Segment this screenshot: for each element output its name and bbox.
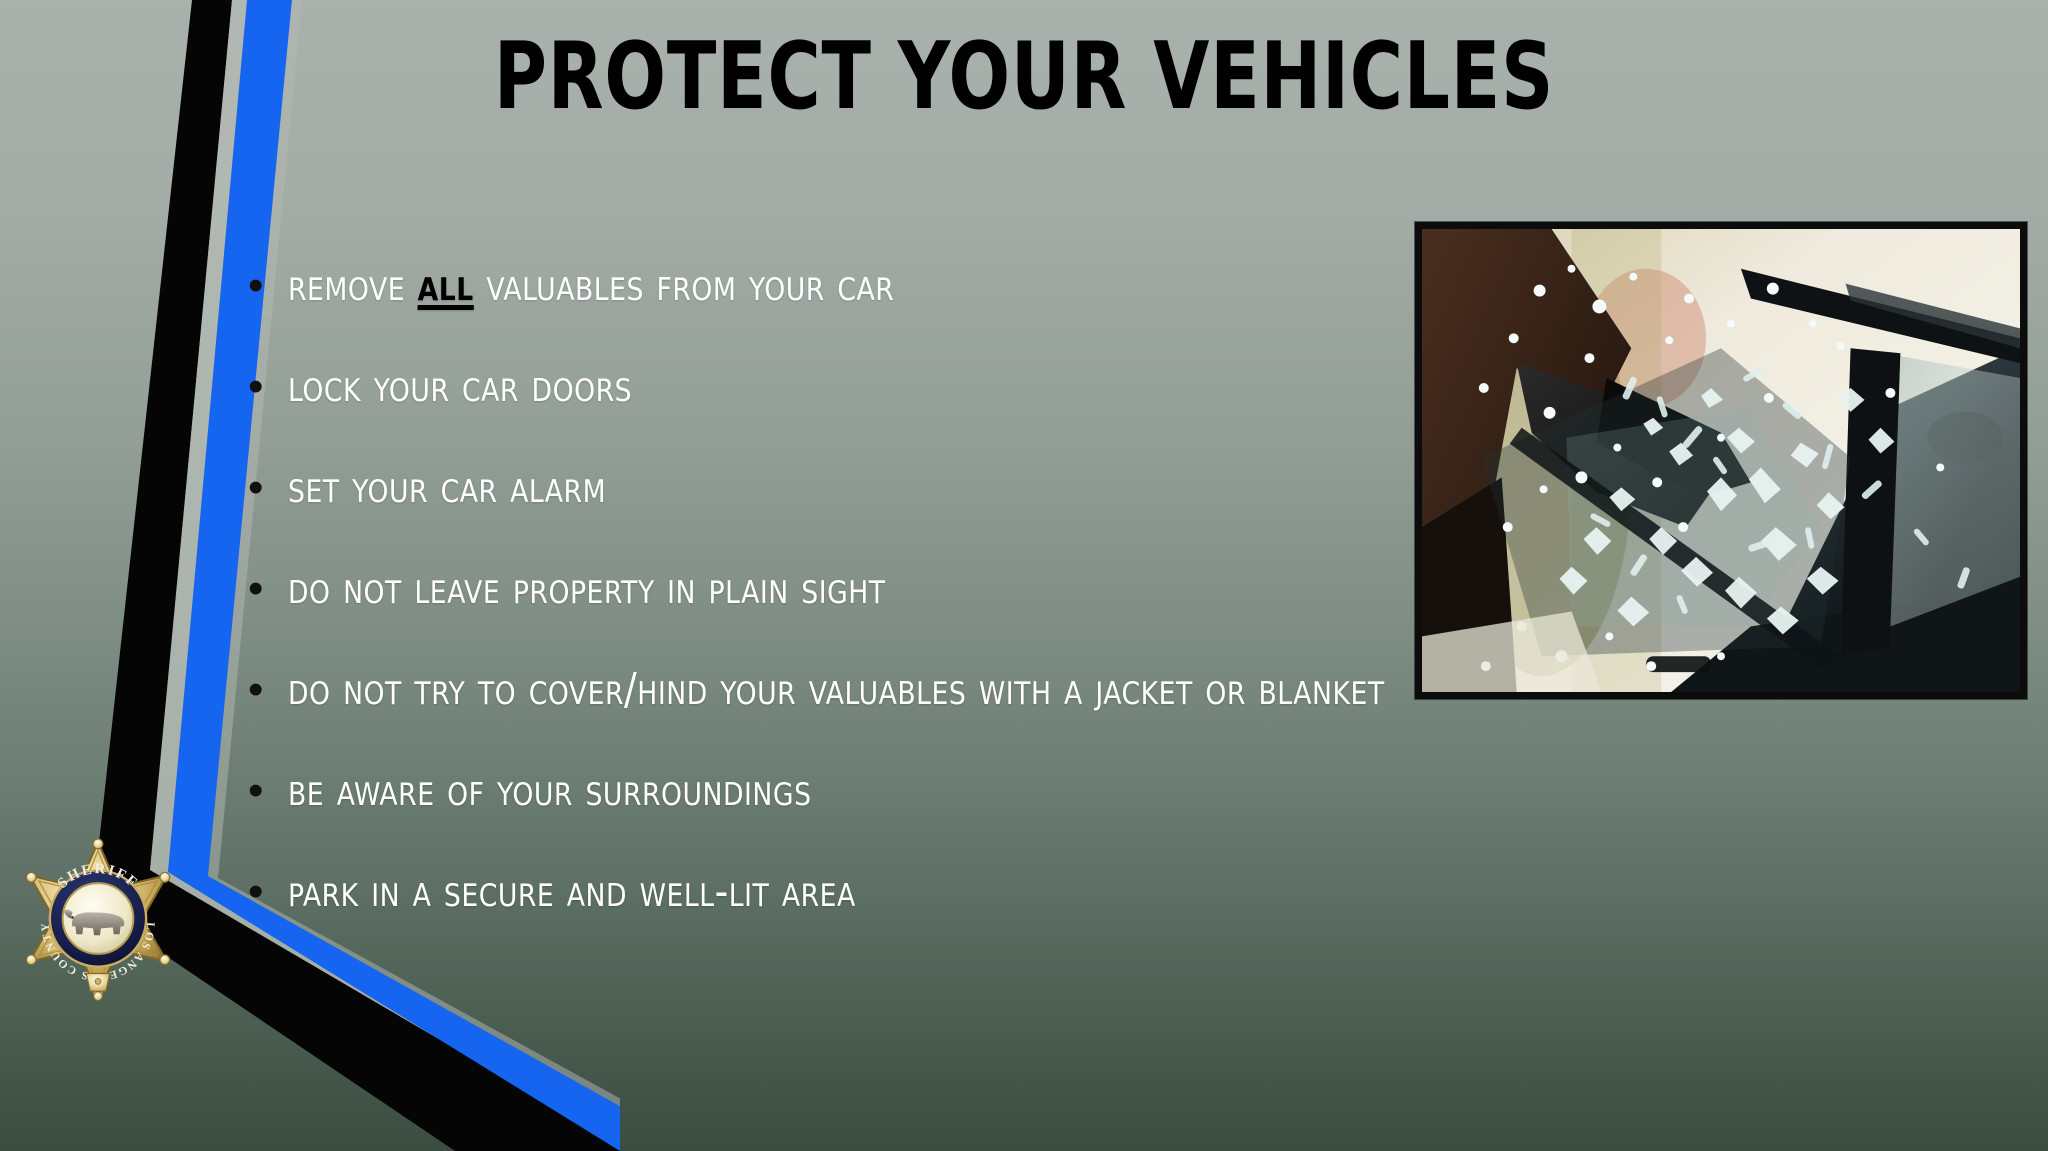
bullet-marker-icon: •	[248, 860, 288, 924]
bullet-marker-icon: •	[248, 759, 288, 823]
bullet-marker-icon: •	[248, 254, 288, 318]
list-item: • Park in a secure and well-lit area	[248, 858, 1938, 926]
list-item: • Be aware of your surroundings	[248, 757, 1938, 825]
bullet-text-post: valuables from your car	[474, 260, 895, 311]
bullet-marker-icon: •	[248, 456, 288, 520]
bullet-marker-icon: •	[248, 557, 288, 621]
bullet-marker-icon: •	[248, 355, 288, 419]
bullet-keyword-all: ALL	[418, 260, 474, 311]
bullet-text-be-aware-of-surroundings: Be aware of your surroundings	[288, 757, 1707, 825]
bullet-text-pre: Remove	[288, 260, 418, 311]
car-window-break-in-photo	[1415, 222, 2027, 699]
bullet-text-park-in-secure-area: Park in a secure and well-lit area	[288, 858, 1707, 926]
la-county-sheriff-badge: SHERIFF · LOS ANGELES COUNTY ·	[9, 836, 187, 1001]
bullet-marker-icon: •	[248, 658, 288, 722]
page-title: PROTECT YOUR VEHICLES	[225, 28, 1822, 126]
bullet-text-do-not-cover-valuables: Do not try to cover/hind your valuables …	[288, 656, 1578, 724]
slide-protect-your-vehicles: PROTECT YOUR VEHICLES • Remove ALL valua…	[0, 0, 2048, 1151]
